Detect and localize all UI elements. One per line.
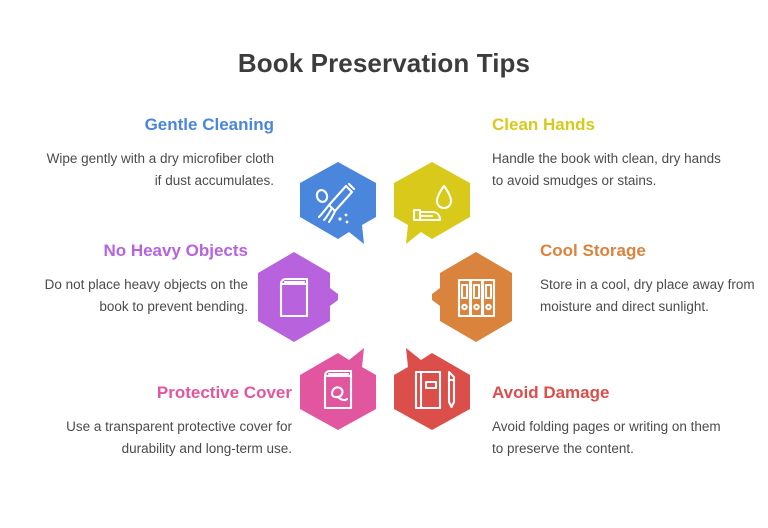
tip-body-no-heavy-objects: Do not place heavy objects on the book t… bbox=[18, 274, 248, 318]
tip-heading-no-heavy-objects: No Heavy Objects bbox=[18, 240, 248, 261]
tip-block-cool-storage: Cool Storage Store in a cool, dry place … bbox=[540, 240, 768, 318]
tip-block-clean-hands: Clean Hands Handle the book with clean, … bbox=[492, 114, 722, 192]
tip-body-cool-storage: Store in a cool, dry place away from moi… bbox=[540, 274, 768, 318]
tip-block-avoid-damage: Avoid Damage Avoid folding pages or writ… bbox=[492, 382, 722, 460]
tip-heading-clean-hands: Clean Hands bbox=[492, 114, 722, 135]
hex-icon-gentle-cleaning[interactable] bbox=[294, 160, 382, 258]
tip-heading-gentle-cleaning: Gentle Cleaning bbox=[44, 114, 274, 135]
hex-icon-avoid-damage[interactable] bbox=[388, 334, 476, 432]
hexagon-icon-cluster bbox=[268, 160, 500, 432]
hex-icon-no-heavy-objects[interactable] bbox=[250, 248, 338, 346]
page-title: Book Preservation Tips bbox=[0, 48, 768, 79]
hex-icon-protective-cover[interactable] bbox=[294, 334, 382, 432]
tip-heading-avoid-damage: Avoid Damage bbox=[492, 382, 722, 403]
hexagon-shape-purple bbox=[258, 252, 338, 342]
tip-heading-protective-cover: Protective Cover bbox=[62, 382, 292, 403]
tip-block-no-heavy-objects: No Heavy Objects Do not place heavy obje… bbox=[18, 240, 248, 318]
tip-block-protective-cover: Protective Cover Use a transparent prote… bbox=[62, 382, 292, 460]
tip-body-clean-hands: Handle the book with clean, dry hands to… bbox=[492, 148, 722, 192]
hexagon-shape-pink bbox=[300, 348, 376, 430]
tip-block-gentle-cleaning: Gentle Cleaning Wipe gently with a dry m… bbox=[44, 114, 274, 192]
tip-body-gentle-cleaning: Wipe gently with a dry microfiber cloth … bbox=[44, 148, 274, 192]
hexagon-shape-blue bbox=[300, 162, 376, 244]
hex-icon-clean-hands[interactable] bbox=[388, 160, 476, 258]
tip-body-protective-cover: Use a transparent protective cover for d… bbox=[62, 416, 292, 460]
hexagon-shape-yellow bbox=[394, 162, 470, 244]
tip-heading-cool-storage: Cool Storage bbox=[540, 240, 768, 261]
infographic-canvas: Book Preservation Tips Gentle Cleaning W… bbox=[0, 0, 768, 528]
hex-icon-cool-storage[interactable] bbox=[432, 248, 520, 346]
tip-body-avoid-damage: Avoid folding pages or writing on them t… bbox=[492, 416, 722, 460]
